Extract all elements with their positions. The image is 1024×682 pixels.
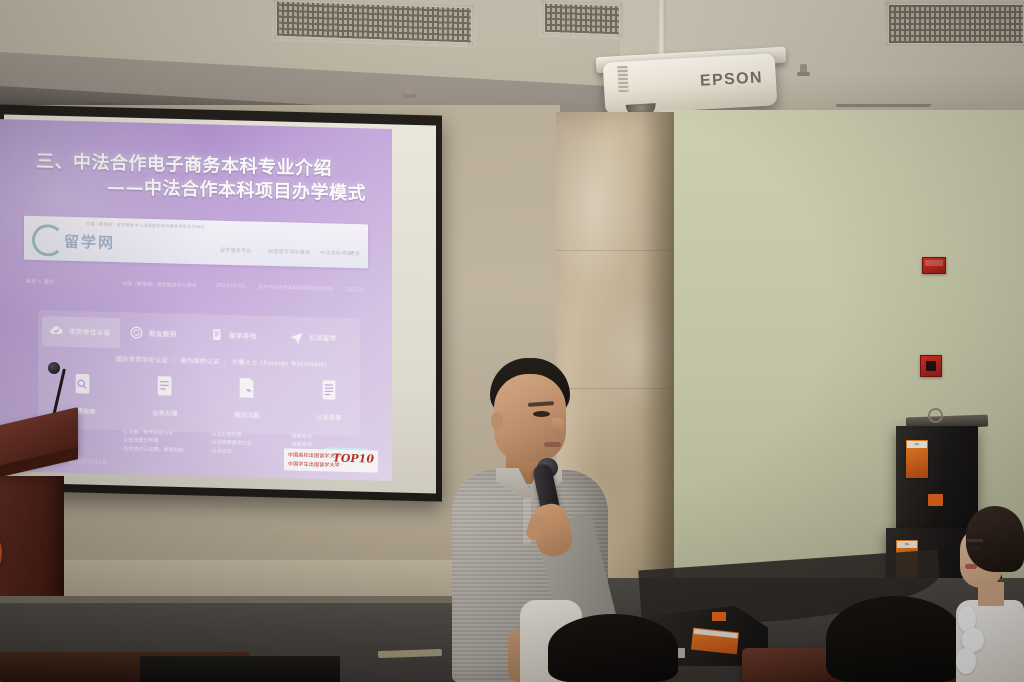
blouse-ruffle [956, 648, 976, 674]
top10-label: TOP10 [333, 452, 374, 466]
category-item-1: 就业报到 [122, 318, 200, 350]
document-label-2: 常见问题 [206, 409, 288, 420]
air-vent-icon [884, 0, 1024, 48]
fire-alarm-pull-station-icon[interactable] [920, 355, 942, 377]
bullet-2-2: ·认证证书 [210, 447, 252, 456]
document-label-3: 认证进度 [288, 411, 370, 422]
slide-website-header: 中国（教育部）留学服务中心出国留学培训基地项目官方网站 留学网 留学服务平台 出… [24, 216, 368, 269]
bullet-column-2: ·认证办理时限 ·认证结果查询方式 ·认证证书 [210, 430, 252, 456]
category-label-3: 公派留学 [309, 332, 337, 343]
subnav-item-0: 国外学历学位认证 [116, 356, 168, 364]
document-label-1: 业务办理 [124, 407, 206, 418]
pillar-shadow [640, 112, 674, 617]
site-nav-item-1: 出国留学培训基地 [268, 248, 310, 256]
air-vent-icon [540, 0, 624, 39]
woman-blouse [956, 600, 1024, 682]
category-label-0: 学历学位认证 [69, 326, 110, 337]
category-item-0: 学历学位认证 [42, 316, 120, 348]
meta-views: 2023次 [346, 286, 364, 293]
projector-brand-label: EPSON [700, 69, 764, 90]
presenter-eye [533, 411, 550, 417]
wedge-jbl-logo-icon [712, 612, 726, 621]
bullet-column-1: ·1.注册／账号实名认证 ·2.在线提交申请 ·在线支付认证费、邮寄材料 [122, 428, 184, 454]
air-vent-icon [272, 0, 476, 48]
jbl-logo-icon [928, 494, 943, 506]
category-label-2: 留学存档 [229, 330, 257, 341]
sprinkler-icon [406, 86, 413, 98]
lecture-hall-photo: EPSON 三、中法合作电子商务本科专业介绍 ——中法合作本科项目办学模式 中国… [0, 0, 1024, 682]
woman-eye [968, 546, 981, 551]
meta-source: 中国（教育部）留学服务中心发布 [122, 280, 197, 289]
speaker-label-brand: JBL [907, 441, 927, 448]
fire-alarm-bell-icon [922, 257, 946, 274]
category-label-1: 就业报到 [149, 328, 177, 339]
projector-mount-rod [657, 0, 666, 58]
document-stack-icon [208, 326, 225, 342]
doc-lines-icon [154, 373, 176, 400]
meta-date: 2023-06-01 [216, 283, 245, 290]
category-item-3: 公派留学 [282, 322, 360, 354]
site-nav-item-3: 更多 [350, 250, 361, 257]
presenter-nose [552, 418, 564, 434]
refresh-circle-icon [128, 324, 145, 340]
podium-microphone-icon [48, 362, 60, 374]
document-item-2: 常见问题 [206, 374, 288, 420]
speaker-warning-label: JBL [906, 440, 928, 478]
front-desk-shadow [140, 656, 340, 682]
document-item-3: 认证进度 [288, 376, 370, 422]
site-tagline: 中国（教育部）留学服务中心出国留学培训基地项目官方网站 [86, 221, 205, 230]
doc-list-icon [318, 377, 340, 404]
woman-lips [965, 564, 977, 569]
meta-doc-title: 关于中法合作本科项目招生的公告 [258, 284, 333, 293]
presenter-ear [491, 412, 503, 430]
bullet-1-2: ·在线支付认证费、邮寄材料 [122, 445, 184, 455]
speaker-hanging-ring-icon [928, 408, 943, 423]
slide-document-row: 办理指南 业务办理 常见问题 [42, 370, 368, 432]
slide-title: 三、中法合作电子商务本科专业介绍 ——中法合作本科项目办学模式 [36, 150, 376, 206]
site-nav-item-0: 留学服务平台 [220, 247, 252, 255]
airplane-icon [288, 328, 305, 344]
doc-search-icon [72, 371, 94, 398]
document-item-1: 业务办理 [124, 372, 206, 418]
speaker-label-brand: JBL [897, 541, 917, 548]
woman-eyebrow [967, 539, 983, 542]
subnav-item-1: 国内高校认证 [181, 358, 220, 366]
site-nav-item-2: 中法本科项目 [320, 249, 352, 257]
wedge-warning-label [691, 628, 739, 655]
pillar-seam [556, 250, 674, 251]
site-logo-icon [32, 224, 64, 257]
cloud-check-icon [48, 322, 65, 338]
top10-badge: 中国高校出国留学大学 中国学生出国留学大学 TOP10 [284, 448, 378, 472]
meta-breadcrumb: 首页 > 通知 [26, 278, 53, 286]
audience-head [826, 596, 964, 682]
site-logo-text: 留学网 [64, 231, 115, 253]
projector-vent-icon [617, 66, 628, 93]
category-item-2: 留学存档 [202, 320, 280, 352]
slide-meta-row: 首页 > 通知 中国（教育部）留学服务中心发布 2023-06-01 关于中法合… [26, 278, 370, 287]
seated-woman [956, 506, 1024, 682]
presenter-mouth [544, 442, 561, 447]
audience-head [548, 614, 678, 682]
doc-flag-icon [236, 375, 258, 402]
sprinkler-icon [800, 64, 807, 76]
